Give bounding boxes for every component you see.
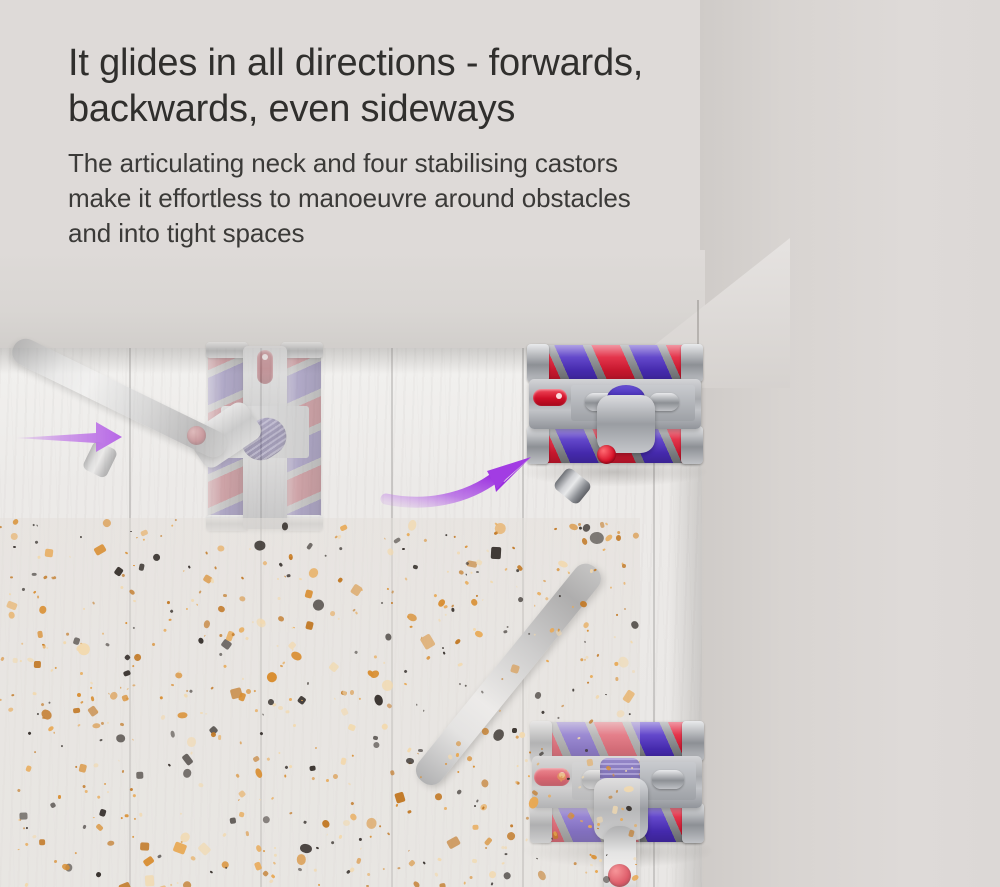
debris-crumb — [551, 837, 553, 839]
debris-crumb — [292, 627, 294, 629]
debris-crumb — [311, 776, 315, 780]
castor-top-left — [527, 344, 549, 382]
debris-crumb — [254, 709, 258, 712]
debris-crumb — [623, 582, 626, 585]
debris-crumb — [615, 676, 619, 680]
debris-crumb — [334, 697, 336, 699]
debris-crumb — [366, 817, 377, 828]
vacuum-head-ghost-rotated — [205, 344, 325, 529]
debris-crumb — [218, 735, 221, 740]
castor-top-right — [281, 342, 323, 358]
debris-crumb — [297, 854, 306, 865]
debris-crumb — [262, 850, 265, 853]
debris-crumb — [276, 577, 279, 579]
debris-crumb — [176, 882, 178, 884]
debris-crumb — [260, 619, 265, 624]
debris-crumb — [144, 875, 154, 886]
castor-top-right — [682, 721, 704, 761]
debris-crumb — [34, 751, 36, 753]
roller-pin-right — [652, 770, 684, 789]
debris-crumb — [76, 693, 80, 697]
debris-crumb — [80, 672, 83, 675]
debris-crumb — [624, 785, 634, 792]
debris-crumb — [178, 670, 181, 673]
debris-crumb — [281, 522, 288, 530]
page-title: It glides in all directions - forwards, … — [68, 40, 888, 132]
debris-crumb — [136, 772, 144, 779]
debris-crumb — [196, 603, 198, 605]
debris-crumb — [418, 749, 423, 752]
debris-crumb — [10, 576, 13, 578]
debris-crumb — [572, 689, 574, 692]
debris-crumb — [252, 621, 254, 623]
debris-crumb — [361, 588, 363, 590]
debris-crumb — [499, 710, 501, 712]
debris-crumb — [276, 645, 278, 647]
debris-crumb — [205, 713, 207, 715]
debris-crumb — [439, 882, 446, 887]
debris-crumb — [230, 817, 237, 823]
debris-crumb — [527, 775, 530, 777]
castor-bottom-left — [527, 426, 549, 464]
debris-crumb — [366, 872, 370, 876]
debris-crumb — [586, 759, 593, 767]
debris-crumb — [174, 518, 176, 520]
castor-top-right — [681, 344, 703, 382]
debris-crumb — [34, 660, 41, 667]
debris-crumb — [610, 586, 612, 588]
debris-crumb — [65, 633, 68, 636]
debris-crumb — [209, 870, 212, 873]
debris-crumb — [624, 608, 626, 610]
debris-crumb — [72, 707, 80, 713]
debris-crumb — [42, 644, 45, 648]
debris-crumb — [139, 812, 142, 816]
debris-crumb — [490, 546, 501, 558]
vacuum-head-corner — [525, 345, 703, 475]
debris-crumb — [383, 661, 385, 663]
debris-crumb — [120, 687, 121, 689]
wand-release-button — [597, 445, 616, 464]
debris-crumb — [210, 578, 214, 583]
debris-crumb — [245, 831, 249, 836]
debris-crumb — [223, 594, 227, 597]
debris-crumb — [39, 840, 46, 846]
debris-crumb — [284, 775, 286, 778]
debris-crumb — [613, 636, 615, 638]
wall-back — [0, 250, 705, 360]
brush-bar-gloss — [533, 345, 701, 381]
copy-block: It glides in all directions - forwards, … — [68, 40, 888, 251]
debris-crumb — [8, 593, 11, 595]
debris-crumb — [245, 689, 250, 694]
debris-crumb — [186, 607, 188, 609]
status-tab — [533, 389, 567, 406]
debris-crumb — [574, 862, 577, 865]
debris-crumb — [463, 882, 466, 885]
debris-crumb — [464, 684, 466, 686]
debris-crumb — [187, 736, 196, 746]
debris-crumb — [280, 664, 283, 667]
debris-crumb — [53, 859, 57, 863]
debris-crumb — [118, 760, 120, 762]
debris-crumb — [100, 721, 103, 725]
debris-crumb — [44, 549, 53, 558]
debris-crumb — [13, 658, 18, 663]
debris-crumb — [391, 601, 393, 603]
castor-top-left — [206, 342, 248, 358]
promo-scene: It glides in all directions - forwards, … — [0, 0, 1000, 887]
debris-crumb — [343, 820, 351, 826]
debris-crumb — [303, 820, 306, 823]
debris-crumb — [124, 814, 128, 818]
page-subtitle: The articulating neck and four stabilisi… — [68, 146, 888, 251]
debris-crumb — [338, 547, 342, 550]
debris-crumb — [629, 713, 631, 715]
debris-crumb — [22, 826, 25, 829]
debris-crumb — [622, 564, 626, 568]
debris-crumb — [130, 531, 132, 532]
debris-crumb — [470, 876, 473, 879]
castor-bottom-right — [681, 426, 703, 464]
debris-crumb — [48, 701, 50, 703]
debris-crumb — [141, 842, 150, 850]
debris-crumb — [293, 723, 296, 726]
wand-release-button — [187, 426, 206, 445]
debris-crumb — [558, 717, 560, 719]
debris-crumb — [412, 564, 417, 569]
debris-crumb — [143, 538, 145, 541]
debris-crumb — [632, 670, 635, 673]
debris-zone-tint — [0, 518, 640, 887]
debris-crumb — [11, 533, 18, 540]
debris-crumb — [473, 825, 479, 830]
castor-bottom-right — [682, 803, 704, 843]
debris-crumb — [444, 807, 447, 810]
debris-patch — [0, 518, 640, 887]
debris-crumb — [85, 790, 88, 793]
status-tab — [257, 350, 273, 384]
brush-bar-top — [533, 345, 701, 381]
debris-crumb — [325, 555, 327, 557]
debris-crumb — [37, 630, 42, 637]
